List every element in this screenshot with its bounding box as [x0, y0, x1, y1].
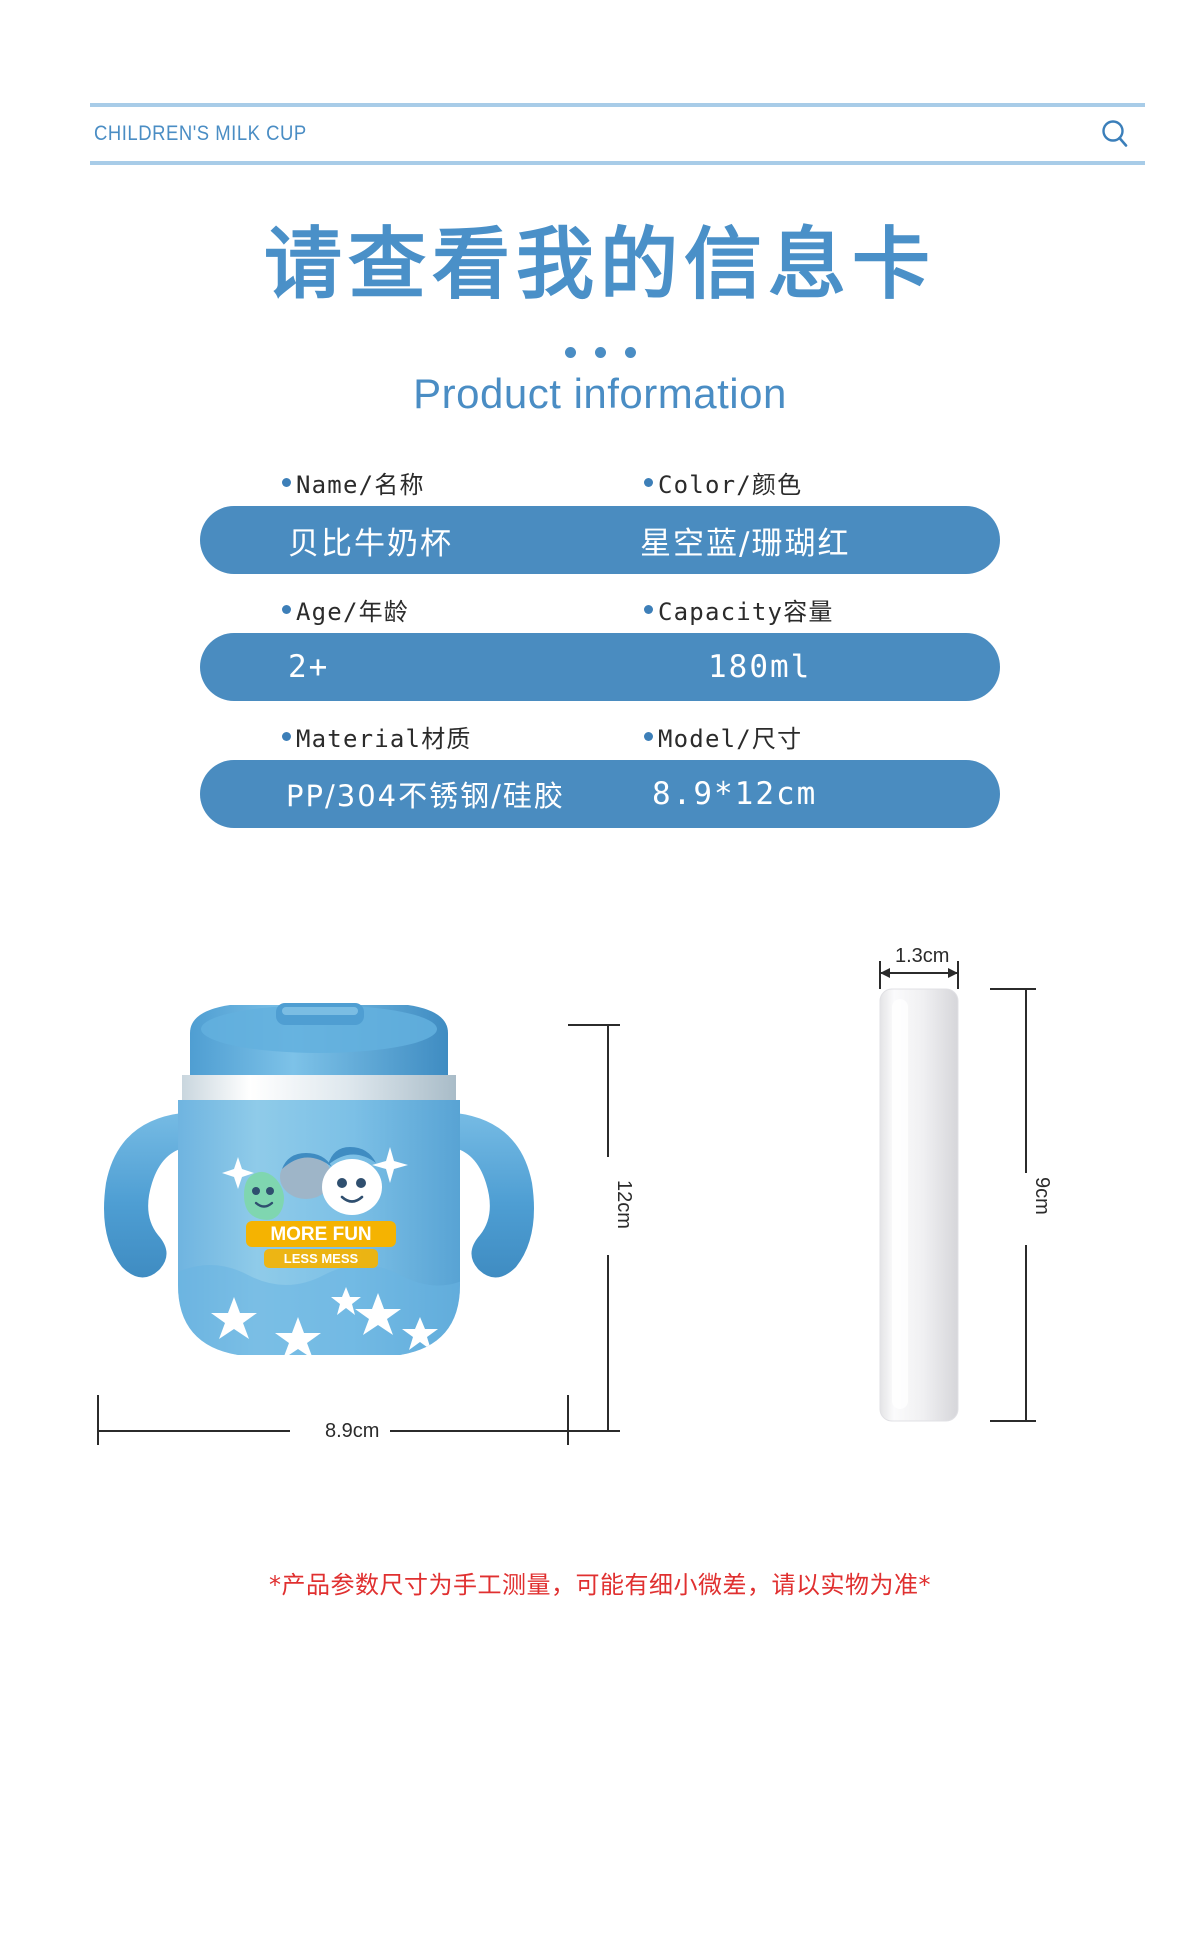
spec-value-model: 8.9*12cm — [630, 776, 1000, 812]
spec-value-color: 星空蓝/珊瑚红 — [630, 518, 1000, 563]
cup-diagram: MORE FUN LESS MESS — [60, 925, 760, 1525]
product-information-page: CHILDREN'S MILK CUP 请查看我的信息卡 Product inf… — [0, 0, 1200, 1938]
bullet-icon — [644, 478, 653, 487]
spec-row-labels: Age/年龄 Capacity容量 — [200, 592, 1000, 633]
straw-diagram — [840, 935, 1100, 1505]
spec-label-text: Material材质 — [296, 719, 472, 754]
spec-label-model: Model/尺寸 — [630, 719, 1000, 754]
spec-row-labels: Name/名称 Color/颜色 — [200, 465, 1000, 506]
search-bar[interactable]: CHILDREN'S MILK CUP — [90, 103, 1145, 165]
bullet-icon — [644, 605, 653, 614]
spec-value-age: 2+ — [200, 649, 630, 685]
spec-label-material: Material材质 — [200, 719, 630, 754]
product-illustration: MORE FUN LESS MESS 12cm 8.9cm — [0, 925, 1200, 1545]
search-input[interactable]: CHILDREN'S MILK CUP — [94, 122, 307, 146]
spec-label-text: Age/年龄 — [296, 592, 409, 627]
spec-label-text: Name/名称 — [296, 465, 425, 500]
dot-1 — [565, 347, 576, 358]
dimension-label-cup-width: 8.9cm — [325, 1420, 379, 1443]
spec-value-capacity: 180ml — [630, 649, 1000, 685]
steel-ring — [182, 1075, 456, 1101]
dot-separator — [0, 347, 1200, 358]
spec-label-age: Age/年龄 — [200, 592, 630, 627]
straw-body — [880, 989, 958, 1421]
bullet-icon — [282, 605, 291, 614]
spec-row: Name/名称 Color/颜色 贝比牛奶杯 星空蓝/珊瑚红 — [0, 465, 1200, 574]
bullet-icon — [282, 732, 291, 741]
search-icon[interactable] — [1093, 112, 1137, 156]
spec-table: Name/名称 Color/颜色 贝比牛奶杯 星空蓝/珊瑚红 Age/年龄 — [0, 465, 1200, 846]
cup-handle-right — [450, 1113, 534, 1278]
spec-label-text: Capacity容量 — [658, 592, 834, 627]
spec-value-pill: 贝比牛奶杯 星空蓝/珊瑚红 — [200, 506, 1000, 574]
dot-3 — [625, 347, 636, 358]
dimension-label-cup-height: 12cm — [612, 1180, 635, 1229]
cup-handle-left — [104, 1113, 188, 1278]
spec-row: Age/年龄 Capacity容量 2+ 180ml — [0, 592, 1200, 701]
decal-text-bottom: LESS MESS — [284, 1251, 359, 1266]
dimension-label-straw-height: 9cm — [1030, 1177, 1053, 1215]
page-subtitle-en: Product information — [0, 370, 1200, 418]
decal-text-top: MORE FUN — [270, 1224, 371, 1245]
spec-label-capacity: Capacity容量 — [630, 592, 1000, 627]
dot-2 — [595, 347, 606, 358]
spec-label-text: Color/颜色 — [658, 465, 802, 500]
page-title-cn: 请查看我的信息卡 — [0, 226, 1200, 304]
spec-value-material: PP/304不锈钢/硅胶 — [200, 773, 630, 815]
spec-value-name: 贝比牛奶杯 — [200, 518, 630, 563]
spec-value-pill: 2+ 180ml — [200, 633, 1000, 701]
spec-label-text: Model/尺寸 — [658, 719, 802, 754]
spec-label-color: Color/颜色 — [630, 465, 1000, 500]
spec-row-labels: Material材质 Model/尺寸 — [200, 719, 1000, 760]
bullet-icon — [282, 478, 291, 487]
spec-label-name: Name/名称 — [200, 465, 630, 500]
dimension-label-straw-width: 1.3cm — [895, 945, 949, 968]
bullet-icon — [644, 732, 653, 741]
spec-value-pill: PP/304不锈钢/硅胶 8.9*12cm — [200, 760, 1000, 828]
spec-row: Material材质 Model/尺寸 PP/304不锈钢/硅胶 8.9*12c… — [0, 719, 1200, 828]
measurement-disclaimer: *产品参数尺寸为手工测量，可能有细小微差，请以实物为准* — [0, 1565, 1200, 1600]
